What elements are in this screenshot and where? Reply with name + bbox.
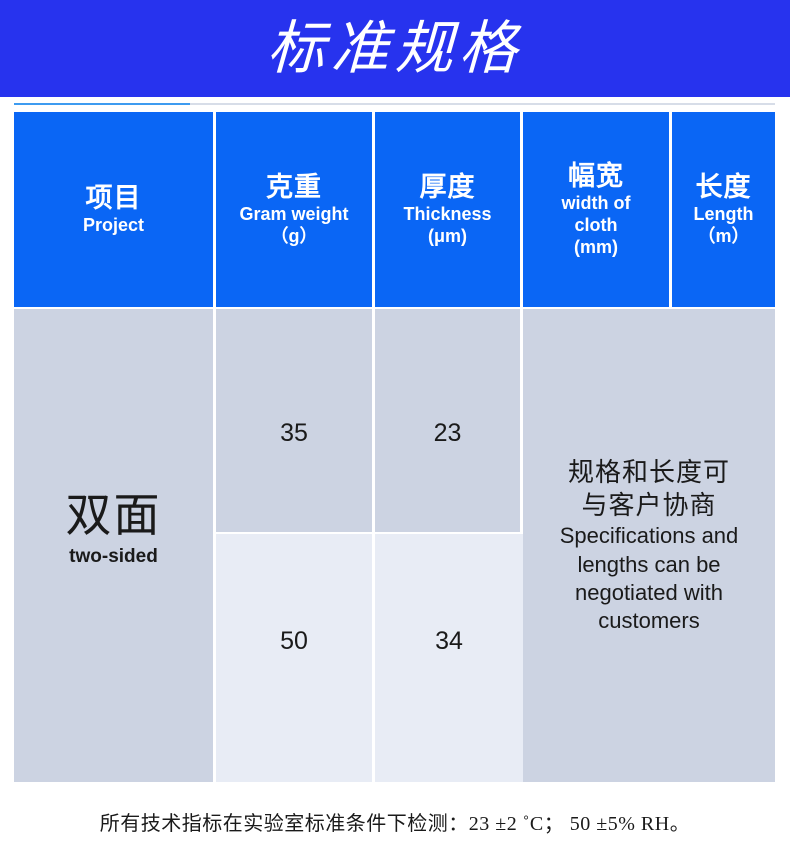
column-header-width-en-line1: width of [527,193,665,215]
cell-thickness-1: 23 [375,309,523,534]
column-header-gram-weight-unit: （g） [220,226,368,248]
column-header-length-cn: 长度 [676,171,771,204]
column-header-width-cn: 幅宽 [527,160,665,193]
note-en-line2: lengths can be [523,551,775,579]
column-header-gram-weight-en: Gram weight [220,204,368,226]
cell-gram-weight-1: 35 [216,309,375,534]
cell-thickness-2-value: 34 [435,627,463,655]
cell-gram-weight-1-value: 35 [280,419,308,447]
column-header-project: 项目 Project [14,112,216,309]
footer-note: 所有技术指标在实验室标准条件下检测：23 ±2 ˚C； 50 ±5% RH。 [100,807,690,836]
table-row: 双面 two-sided 35 23 规格和长度可 与客户协商 Specific… [14,309,775,534]
note-en-line4: customers [523,607,775,635]
footer-note-region: 所有技术指标在实验室标准条件下检测：23 ±2 ˚C； 50 ±5% RH。 [0,797,790,845]
note-cn-line1: 规格和长度可 [523,456,775,489]
column-header-width-en-line2: cloth [527,215,665,237]
column-header-thickness-unit: (μm) [379,226,516,248]
column-header-project-cn: 项目 [18,182,209,215]
column-header-gram-weight: 克重 Gram weight （g） [216,112,375,309]
column-header-length: 长度 Length （m） [672,112,775,309]
page-banner: 标准规格 [0,0,790,97]
table-body: 双面 two-sided 35 23 规格和长度可 与客户协商 Specific… [14,309,775,784]
table-top-rule-accent [14,103,190,105]
row-label-en: two-sided [14,542,213,572]
column-header-length-unit: （m） [676,226,771,248]
row-label-cn: 双面 [14,491,213,542]
note-en-line3: negotiated with [523,579,775,607]
column-header-width-unit: (mm) [527,237,665,259]
column-header-project-en: Project [18,215,209,237]
column-header-length-en: Length [676,204,771,226]
column-header-thickness-cn: 厚度 [379,171,516,204]
column-header-gram-weight-cn: 克重 [220,171,368,204]
column-header-thickness-en: Thickness [379,204,516,226]
note-en-line1: Specifications and [523,522,775,550]
column-header-width-of-cloth: 幅宽 width of cloth (mm) [523,112,672,309]
page-title: 标准规格 [266,20,524,78]
spec-table-region: 项目 Project 克重 Gram weight （g） 厚度 Thickne… [0,97,790,797]
cell-negotiation-note: 规格和长度可 与客户协商 Specifications and lengths … [523,309,775,784]
cell-gram-weight-2: 50 [216,534,375,784]
cell-thickness-1-value: 23 [434,419,462,447]
specification-table: 项目 Project 克重 Gram weight （g） 厚度 Thickne… [14,112,775,784]
cell-gram-weight-2-value: 50 [280,627,308,655]
note-cn-line2: 与客户协商 [523,489,775,522]
row-label-two-sided: 双面 two-sided [14,309,216,784]
table-header-row: 项目 Project 克重 Gram weight （g） 厚度 Thickne… [14,112,775,309]
column-header-thickness: 厚度 Thickness (μm) [375,112,523,309]
cell-thickness-2: 34 [375,534,523,784]
